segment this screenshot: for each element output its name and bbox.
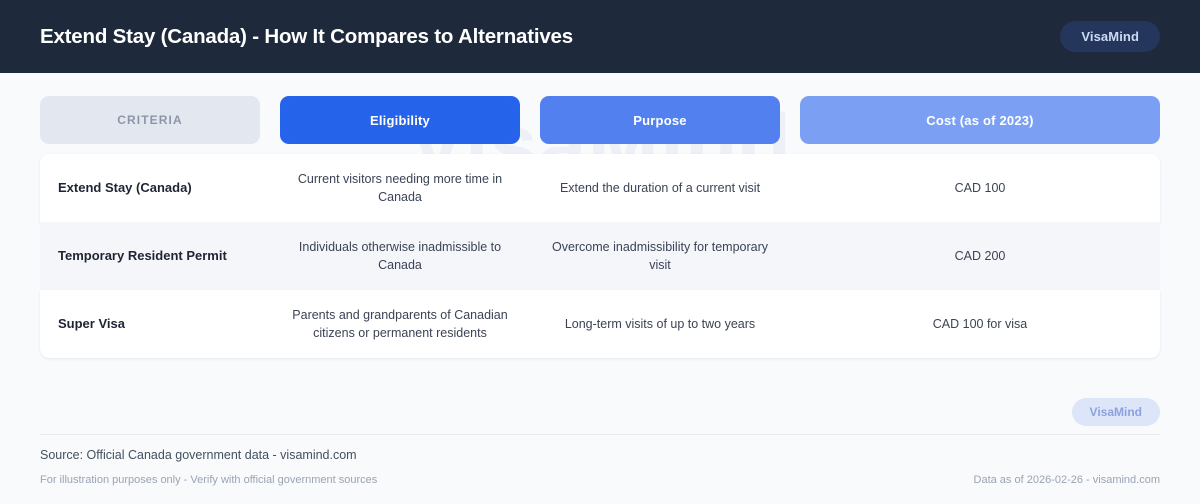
page-title: Extend Stay (Canada) - How It Compares t… bbox=[40, 25, 573, 49]
column-header-purpose[interactable]: Purpose bbox=[540, 96, 780, 144]
row-label: Extend Stay (Canada) bbox=[40, 179, 260, 198]
cell-cost: CAD 100 bbox=[800, 179, 1160, 197]
column-header-criteria[interactable]: CRITERIA bbox=[40, 96, 260, 144]
cell-eligibility: Individuals otherwise inadmissible to Ca… bbox=[280, 238, 520, 274]
footer-divider bbox=[40, 434, 1160, 435]
table-header-row: CRITERIA Eligibility Purpose Cost (as of… bbox=[40, 96, 1160, 144]
brand-badge: VisaMind bbox=[1060, 21, 1160, 52]
data-as-of-text: Data as of 2026-02-26 - visamind.com bbox=[974, 474, 1160, 486]
column-header-eligibility[interactable]: Eligibility bbox=[280, 96, 520, 144]
cell-purpose: Overcome inadmissibility for temporary v… bbox=[540, 238, 780, 274]
table-row: Temporary Resident Permit Individuals ot… bbox=[40, 222, 1160, 290]
cell-cost: CAD 200 bbox=[800, 247, 1160, 265]
page-root: Extend Stay (Canada) - How It Compares t… bbox=[0, 0, 1200, 504]
cell-eligibility: Parents and grandparents of Canadian cit… bbox=[280, 306, 520, 342]
footer-brand-badge: VisaMind bbox=[1072, 398, 1160, 426]
disclaimer-text: For illustration purposes only - Verify … bbox=[40, 474, 377, 486]
table-row: Extend Stay (Canada) Current visitors ne… bbox=[40, 154, 1160, 222]
cell-purpose: Extend the duration of a current visit bbox=[540, 179, 780, 197]
column-header-cost[interactable]: Cost (as of 2023) bbox=[800, 96, 1160, 144]
cell-cost: CAD 100 for visa bbox=[800, 315, 1160, 333]
cell-eligibility: Current visitors needing more time in Ca… bbox=[280, 170, 520, 206]
row-label: Temporary Resident Permit bbox=[40, 247, 260, 266]
source-text: Source: Official Canada government data … bbox=[40, 448, 357, 462]
page-header: Extend Stay (Canada) - How It Compares t… bbox=[0, 0, 1200, 73]
cell-purpose: Long-term visits of up to two years bbox=[540, 315, 780, 333]
footer-badge-row: VisaMind bbox=[40, 398, 1160, 426]
table-row: Super Visa Parents and grandparents of C… bbox=[40, 290, 1160, 358]
row-label: Super Visa bbox=[40, 315, 260, 334]
comparison-table: CRITERIA Eligibility Purpose Cost (as of… bbox=[40, 96, 1160, 358]
